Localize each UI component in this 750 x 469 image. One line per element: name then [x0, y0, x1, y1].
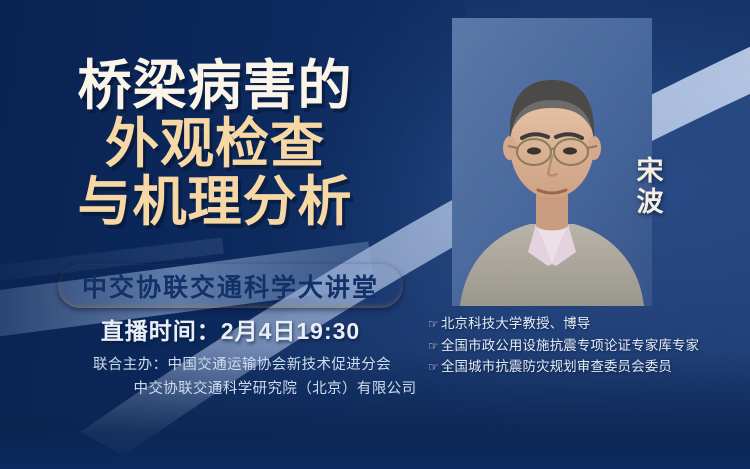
speaker-name: 宋 波 — [628, 156, 672, 219]
credential-text: 北京科技大学教授、博导 — [441, 313, 591, 335]
credential-row: ☞ 全国城市抗震防灾规划审查委员会委员 — [428, 356, 750, 378]
pointing-hand-icon: ☞ — [428, 337, 439, 356]
speaker-name-char-1: 宋 — [628, 156, 672, 187]
speaker-name-char-2: 波 — [628, 187, 672, 218]
poster-title: 桥梁病害的 外观检查 与机理分析 — [0, 58, 430, 230]
credential-text: 全国市政公用设施抗震专项论证专家库专家 — [441, 335, 699, 357]
credential-row: ☞ 全国市政公用设施抗震专项论证专家库专家 — [428, 335, 750, 357]
organizer-line-2: 中交协联交通科学研究院（北京）有限公司 — [42, 378, 442, 402]
pointing-hand-icon: ☞ — [428, 315, 439, 334]
title-line-3: 与机理分析 — [0, 174, 430, 230]
speaker-portrait — [452, 18, 652, 306]
live-time: 直播时间：2月4日19:30 — [58, 312, 403, 346]
credential-row: ☞ 北京科技大学教授、博导 — [428, 313, 750, 335]
title-line-1: 桥梁病害的 — [0, 58, 430, 114]
organizer-block: 联合主办：中国交通运输协会新技术促进分会 中交协联交通科学研究院（北京）有限公司 — [42, 354, 442, 402]
title-line-2: 外观检查 — [0, 116, 430, 172]
webinar-poster: 桥梁病害的 外观检查 与机理分析 中交协联交通科学大讲堂 直播时间：2月4日19… — [0, 0, 750, 469]
series-banner: 中交协联交通科学大讲堂 — [58, 264, 403, 308]
organizer-line-1: 联合主办：中国交通运输协会新技术促进分会 — [42, 354, 442, 378]
credential-text: 全国城市抗震防灾规划审查委员会委员 — [441, 356, 672, 378]
speaker-credentials: ☞ 北京科技大学教授、博导 ☞ 全国市政公用设施抗震专项论证专家库专家 ☞ 全国… — [428, 313, 750, 378]
pointing-hand-icon: ☞ — [428, 358, 439, 377]
series-banner-label: 中交协联交通科学大讲堂 — [82, 268, 379, 304]
